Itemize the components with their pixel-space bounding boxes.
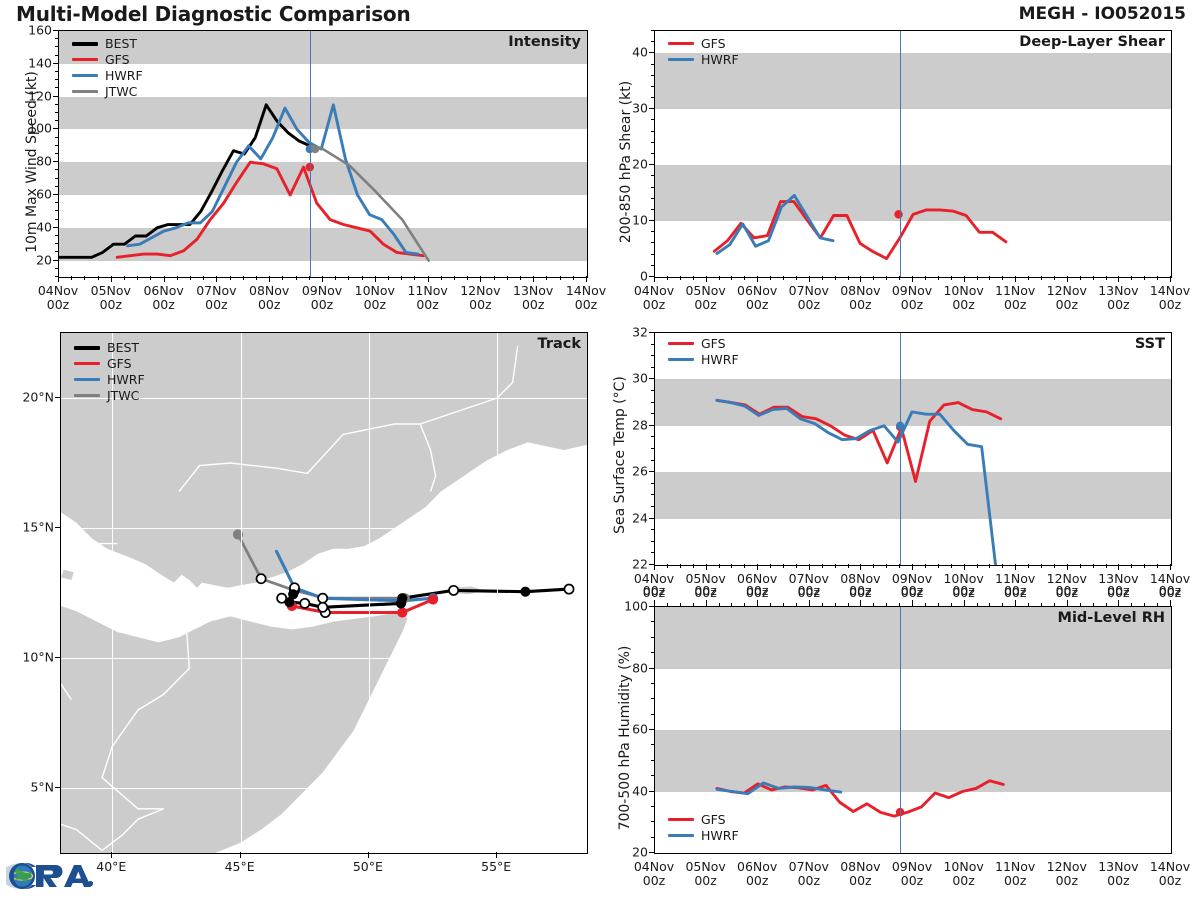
y-axis-tick-label: 22 bbox=[614, 557, 648, 572]
y-axis-tick-mark bbox=[649, 52, 654, 53]
y-axis-minor-tick bbox=[55, 46, 58, 47]
y-axis-minor-tick bbox=[55, 104, 58, 105]
x-axis-minor-tick bbox=[1144, 603, 1145, 607]
legend-item-hwrf: HWRF bbox=[668, 352, 739, 367]
sst-panel-label: SST bbox=[1135, 336, 1165, 352]
y-axis-minor-tick bbox=[651, 30, 654, 31]
x-axis-minor-tick bbox=[1106, 603, 1107, 607]
track-point-hwrf-open bbox=[318, 594, 327, 603]
x-axis-top-tick-label: 00z bbox=[1137, 584, 1200, 598]
track-point-best-open bbox=[318, 603, 327, 612]
shear-panel-label: Deep-Layer Shear bbox=[1019, 34, 1165, 50]
legend-item-hwrf: HWRF bbox=[668, 828, 739, 843]
legend-label-gfs: GFS bbox=[701, 812, 726, 827]
y-axis-tick-label: 10 bbox=[614, 213, 648, 228]
series-line-hwrf bbox=[717, 783, 841, 794]
x-axis-tick-label: 14Nov00z bbox=[1137, 860, 1200, 888]
y-axis-minor-tick bbox=[651, 529, 654, 530]
y-axis-minor-tick bbox=[651, 448, 654, 449]
x-axis-minor-tick bbox=[951, 603, 952, 607]
y-axis-minor-tick bbox=[651, 683, 654, 684]
y-axis-tick-label: 100 bbox=[614, 599, 648, 614]
current-time-line bbox=[900, 607, 901, 853]
y-axis-minor-tick bbox=[651, 254, 654, 255]
track-point-jtwc-open bbox=[257, 574, 266, 583]
y-axis-minor-tick bbox=[651, 175, 654, 176]
y-axis-minor-tick bbox=[55, 145, 58, 146]
y-axis-tick-mark bbox=[649, 729, 654, 730]
y-axis-tick-mark bbox=[53, 30, 58, 31]
map-lat-tick-mark bbox=[55, 657, 60, 658]
y-axis-tick-label: 40 bbox=[614, 783, 648, 798]
legend-item-gfs: GFS bbox=[668, 336, 739, 351]
map-gridline-lat bbox=[61, 658, 587, 659]
y-axis-tick-mark bbox=[53, 260, 58, 261]
map-lon-tick-mark bbox=[496, 852, 497, 858]
y-axis-minor-tick bbox=[651, 153, 654, 154]
track-point-best-filled bbox=[521, 587, 530, 596]
storm-title: MEGH - IO052015 bbox=[1019, 4, 1186, 24]
legend-item-gfs: GFS bbox=[668, 36, 739, 51]
map-lon-tick-label: 55°E bbox=[463, 860, 529, 874]
y-axis-minor-tick bbox=[55, 251, 58, 252]
x-axis-minor-tick bbox=[886, 603, 887, 607]
shear-plot-area: Deep-Layer Shear bbox=[654, 30, 1172, 278]
y-axis-minor-tick bbox=[651, 97, 654, 98]
x-axis-minor-tick bbox=[977, 603, 978, 607]
x-axis-tick-mark bbox=[706, 600, 707, 606]
track-panel-label: Track bbox=[538, 336, 581, 352]
box-sst-series-layer bbox=[655, 333, 1171, 565]
land-island-2 bbox=[61, 570, 74, 580]
y-axis-tick-mark bbox=[649, 668, 654, 669]
y-axis-minor-tick bbox=[651, 436, 654, 437]
y-axis-minor-tick bbox=[55, 87, 58, 88]
legend-label-gfs: GFS bbox=[105, 52, 130, 67]
series-line-hwrf bbox=[128, 105, 418, 254]
y-axis-minor-tick bbox=[651, 131, 654, 132]
x-axis-minor-tick bbox=[925, 603, 926, 607]
map-lon-tick-mark bbox=[368, 852, 369, 858]
x-axis-tick-mark bbox=[654, 600, 655, 606]
y-axis-tick-label: 160 bbox=[18, 23, 52, 38]
series-line-gfs bbox=[714, 202, 1006, 259]
map-lon-tick-label: 50°E bbox=[335, 860, 401, 874]
y-axis-tick-mark bbox=[649, 471, 654, 472]
y-axis-tick-label: 100 bbox=[18, 121, 52, 136]
x-axis-minor-tick bbox=[731, 603, 732, 607]
map-lat-tick-mark bbox=[55, 787, 60, 788]
legend-item-gfs: GFS bbox=[72, 52, 143, 67]
series-line-hwrf bbox=[717, 195, 833, 253]
y-axis-minor-tick bbox=[651, 806, 654, 807]
y-axis-tick-mark bbox=[649, 164, 654, 165]
y-axis-minor-tick bbox=[651, 231, 654, 232]
y-axis-tick-label: 20 bbox=[614, 845, 648, 860]
legend-item-hwrf: HWRF bbox=[668, 52, 739, 67]
y-axis-tick-label: 40 bbox=[614, 45, 648, 60]
y-axis-tick-mark bbox=[649, 852, 654, 853]
y-axis-minor-tick bbox=[651, 209, 654, 210]
y-axis-minor-tick bbox=[651, 637, 654, 638]
x-axis-minor-tick bbox=[796, 603, 797, 607]
sst-plot-area: SST bbox=[654, 332, 1172, 566]
x-axis-tick-mark bbox=[757, 600, 758, 606]
y-axis-tick-label: 140 bbox=[18, 55, 52, 70]
y-axis-tick-mark bbox=[649, 220, 654, 221]
y-axis-tick-label: 30 bbox=[614, 371, 648, 386]
series-marker-jtwc bbox=[311, 145, 319, 153]
legend-label-jtwc: JTWC bbox=[107, 388, 139, 403]
legend-swatch-best bbox=[74, 346, 100, 350]
y-axis-tick-mark bbox=[53, 128, 58, 129]
shear-legend: GFS HWRF bbox=[668, 36, 739, 67]
rh-panel-label: Mid-Level RH bbox=[1058, 610, 1165, 626]
y-axis-minor-tick bbox=[55, 112, 58, 113]
legend-item-best: BEST bbox=[74, 340, 145, 355]
border-djibouti bbox=[174, 590, 195, 616]
y-axis-tick-label: 26 bbox=[614, 464, 648, 479]
y-axis-tick-mark bbox=[53, 227, 58, 228]
current-time-line bbox=[900, 333, 901, 565]
y-axis-minor-tick bbox=[55, 169, 58, 170]
track-point-best-filled bbox=[396, 599, 405, 608]
legend-label-gfs: GFS bbox=[107, 356, 132, 371]
legend-swatch-hwrf bbox=[668, 358, 694, 361]
map-gridline-lon bbox=[497, 333, 498, 853]
y-axis-minor-tick bbox=[651, 41, 654, 42]
sst-legend: GFS HWRF bbox=[668, 336, 739, 367]
y-axis-minor-tick bbox=[55, 71, 58, 72]
y-axis-minor-tick bbox=[651, 541, 654, 542]
x-axis-minor-tick bbox=[744, 603, 745, 607]
legend-item-gfs: GFS bbox=[74, 356, 145, 371]
y-axis-minor-tick bbox=[55, 153, 58, 154]
x-axis-minor-tick bbox=[667, 603, 668, 607]
map-lat-tick-label: 10°N bbox=[6, 650, 54, 665]
map-lon-tick-mark bbox=[240, 852, 241, 858]
current-time-line bbox=[900, 31, 901, 277]
track-point-best-open bbox=[449, 586, 458, 595]
x-axis-minor-tick bbox=[938, 603, 939, 607]
y-axis-tick-label: 30 bbox=[614, 101, 648, 116]
x-axis-minor-tick bbox=[848, 603, 849, 607]
map-gridline-lat bbox=[61, 788, 587, 789]
x-axis-minor-tick bbox=[1002, 603, 1003, 607]
figure-canvas: Multi-Model Diagnostic Comparison MEGH -… bbox=[0, 0, 1200, 900]
y-axis-minor-tick bbox=[55, 137, 58, 138]
x-axis-tick-mark bbox=[964, 600, 965, 606]
x-axis-tick-mark bbox=[912, 600, 913, 606]
y-axis-minor-tick bbox=[651, 265, 654, 266]
x-axis-minor-tick bbox=[1131, 603, 1132, 607]
y-axis-minor-tick bbox=[55, 38, 58, 39]
intensity-panel-label: Intensity bbox=[508, 34, 581, 50]
map-lat-tick-mark bbox=[55, 527, 60, 528]
y-axis-tick-mark bbox=[53, 194, 58, 195]
track-point-gfs-filled bbox=[398, 608, 407, 617]
legend-label-hwrf: HWRF bbox=[105, 68, 143, 83]
legend-label-hwrf: HWRF bbox=[701, 352, 739, 367]
y-axis-tick-mark bbox=[649, 425, 654, 426]
y-axis-tick-label: 24 bbox=[614, 510, 648, 525]
y-axis-minor-tick bbox=[55, 268, 58, 269]
y-axis-minor-tick bbox=[651, 142, 654, 143]
y-axis-tick-mark bbox=[649, 606, 654, 607]
legend-item-hwrf: HWRF bbox=[72, 68, 143, 83]
y-axis-minor-tick bbox=[651, 494, 654, 495]
y-axis-minor-tick bbox=[651, 242, 654, 243]
map-gridline-lon bbox=[241, 333, 242, 853]
y-axis-tick-mark bbox=[649, 378, 654, 379]
y-axis-minor-tick bbox=[651, 344, 654, 345]
x-axis-minor-tick bbox=[1157, 603, 1158, 607]
y-axis-minor-tick bbox=[651, 367, 654, 368]
y-axis-tick-label: 20 bbox=[18, 252, 52, 267]
main-title: Multi-Model Diagnostic Comparison bbox=[16, 2, 411, 26]
legend-swatch-gfs bbox=[74, 362, 100, 365]
y-axis-minor-tick bbox=[651, 402, 654, 403]
legend-swatch-jtwc bbox=[72, 90, 98, 93]
y-axis-minor-tick bbox=[55, 178, 58, 179]
legend-label-gfs: GFS bbox=[701, 36, 726, 51]
x-axis-tick-label: 14Nov00z bbox=[1137, 284, 1200, 312]
y-axis-minor-tick bbox=[55, 219, 58, 220]
y-axis-minor-tick bbox=[651, 652, 654, 653]
y-axis-minor-tick bbox=[651, 86, 654, 87]
series-line-gfs bbox=[717, 400, 1001, 481]
y-axis-tick-label: 28 bbox=[614, 417, 648, 432]
track-point-best-open bbox=[564, 585, 573, 594]
y-axis-minor-tick bbox=[651, 506, 654, 507]
x-axis-minor-tick bbox=[1093, 603, 1094, 607]
y-axis-minor-tick bbox=[651, 64, 654, 65]
x-axis-minor-tick bbox=[835, 603, 836, 607]
map-lon-tick-label: 45°E bbox=[207, 860, 273, 874]
y-axis-tick-label: 32 bbox=[614, 325, 648, 340]
y-axis-minor-tick bbox=[651, 621, 654, 622]
legend-swatch-hwrf bbox=[74, 378, 100, 381]
y-axis-minor-tick bbox=[55, 79, 58, 80]
x-axis-minor-tick bbox=[873, 603, 874, 607]
x-axis-minor-tick bbox=[680, 603, 681, 607]
map-lat-tick-label: 15°N bbox=[6, 520, 54, 535]
legend-label-hwrf: HWRF bbox=[107, 372, 145, 387]
legend-swatch-gfs bbox=[668, 42, 694, 45]
y-axis-tick-mark bbox=[649, 518, 654, 519]
y-axis-minor-tick bbox=[651, 413, 654, 414]
legend-item-best: BEST bbox=[72, 36, 143, 51]
x-axis-minor-tick bbox=[899, 603, 900, 607]
rh-y-axis-label: 700-500 hPa Humidity (%) bbox=[617, 623, 633, 853]
y-axis-tick-label: 60 bbox=[18, 187, 52, 202]
current-time-line bbox=[310, 31, 311, 277]
x-axis-tick-mark bbox=[1067, 600, 1068, 606]
y-axis-tick-label: 0 bbox=[614, 269, 648, 284]
y-axis-tick-label: 60 bbox=[614, 722, 648, 737]
cira-logo bbox=[6, 856, 98, 896]
y-axis-minor-tick bbox=[55, 120, 58, 121]
x-axis-minor-tick bbox=[1041, 603, 1042, 607]
map-gridline-lon bbox=[369, 333, 370, 853]
box-shear-series-layer bbox=[655, 31, 1171, 277]
x-axis-tick-mark bbox=[809, 600, 810, 606]
y-axis-minor-tick bbox=[651, 119, 654, 120]
legend-label-gfs: GFS bbox=[701, 336, 726, 351]
y-axis-tick-mark bbox=[53, 63, 58, 64]
y-axis-tick-label: 80 bbox=[614, 660, 648, 675]
x-axis-minor-tick bbox=[770, 603, 771, 607]
legend-swatch-gfs bbox=[668, 818, 694, 821]
cira-logo-graphic bbox=[6, 856, 98, 896]
y-axis-tick-mark bbox=[53, 96, 58, 97]
rh-legend: GFS HWRF bbox=[668, 812, 739, 843]
y-axis-minor-tick bbox=[55, 210, 58, 211]
y-axis-minor-tick bbox=[651, 355, 654, 356]
map-gridline-lat bbox=[61, 528, 587, 529]
map-lon-tick-mark bbox=[111, 852, 112, 858]
y-axis-minor-tick bbox=[651, 760, 654, 761]
track-map-layer bbox=[61, 333, 587, 853]
y-axis-minor-tick bbox=[651, 837, 654, 838]
y-axis-minor-tick bbox=[651, 390, 654, 391]
x-axis-tick-mark bbox=[1170, 600, 1171, 606]
series-line-gfs bbox=[117, 162, 423, 257]
legend-swatch-gfs bbox=[668, 342, 694, 345]
series-line-jtwc bbox=[310, 146, 429, 261]
y-axis-minor-tick bbox=[651, 483, 654, 484]
legend-item-hwrf: HWRF bbox=[74, 372, 145, 387]
legend-label-hwrf: HWRF bbox=[701, 828, 739, 843]
legend-swatch-hwrf bbox=[668, 834, 694, 837]
x-axis-tick-mark bbox=[860, 600, 861, 606]
map-lat-tick-mark bbox=[55, 397, 60, 398]
y-axis-tick-mark bbox=[649, 108, 654, 109]
y-axis-minor-tick bbox=[651, 460, 654, 461]
y-axis-minor-tick bbox=[55, 235, 58, 236]
y-axis-tick-label: 120 bbox=[18, 88, 52, 103]
legend-item-jtwc: JTWC bbox=[74, 388, 145, 403]
legend-swatch-hwrf bbox=[668, 58, 694, 61]
y-axis-tick-mark bbox=[649, 332, 654, 333]
x-axis-minor-tick bbox=[822, 603, 823, 607]
y-axis-minor-tick bbox=[651, 552, 654, 553]
track-point-best-filled bbox=[289, 590, 298, 599]
y-axis-minor-tick bbox=[651, 75, 654, 76]
legend-swatch-jtwc bbox=[74, 394, 100, 397]
y-axis-tick-label: 40 bbox=[18, 219, 52, 234]
y-axis-minor-tick bbox=[651, 198, 654, 199]
x-axis-minor-tick bbox=[719, 603, 720, 607]
y-axis-minor-tick bbox=[651, 714, 654, 715]
x-axis-tick-mark bbox=[1015, 600, 1016, 606]
x-axis-minor-tick bbox=[1080, 603, 1081, 607]
x-axis-minor-tick bbox=[1028, 603, 1029, 607]
y-axis-minor-tick bbox=[651, 821, 654, 822]
series-line-best bbox=[59, 105, 310, 258]
track-map-area: Track bbox=[60, 332, 588, 854]
y-axis-minor-tick bbox=[651, 187, 654, 188]
y-axis-minor-tick bbox=[651, 744, 654, 745]
x-axis-minor-tick bbox=[1054, 603, 1055, 607]
x-axis-tick-label: 14Nov00z bbox=[553, 284, 619, 312]
legend-swatch-best bbox=[72, 42, 98, 46]
legend-label-jtwc: JTWC bbox=[105, 84, 137, 99]
series-marker-gfs bbox=[894, 210, 902, 218]
legend-item-jtwc: JTWC bbox=[72, 84, 143, 99]
y-axis-minor-tick bbox=[55, 186, 58, 187]
map-lat-tick-label: 5°N bbox=[6, 780, 54, 795]
y-axis-tick-mark bbox=[53, 161, 58, 162]
legend-label-best: BEST bbox=[105, 36, 137, 51]
track-point-gfs-filled bbox=[428, 595, 437, 604]
y-axis-tick-label: 80 bbox=[18, 154, 52, 169]
track-point-best-open bbox=[300, 599, 309, 608]
y-axis-minor-tick bbox=[55, 55, 58, 56]
legend-item-gfs: GFS bbox=[668, 812, 739, 827]
track-legend: BEST GFS HWRF JTWC bbox=[74, 340, 145, 403]
legend-label-hwrf: HWRF bbox=[701, 52, 739, 67]
y-axis-minor-tick bbox=[651, 698, 654, 699]
y-axis-tick-label: 20 bbox=[614, 157, 648, 172]
x-axis-minor-tick bbox=[989, 603, 990, 607]
legend-label-best: BEST bbox=[107, 340, 139, 355]
y-axis-minor-tick bbox=[55, 202, 58, 203]
map-gridline-lon bbox=[112, 333, 113, 853]
legend-swatch-hwrf bbox=[72, 74, 98, 77]
map-lat-tick-label: 20°N bbox=[6, 390, 54, 405]
y-axis-minor-tick bbox=[651, 775, 654, 776]
y-axis-tick-mark bbox=[649, 791, 654, 792]
x-axis-minor-tick bbox=[783, 603, 784, 607]
legend-swatch-gfs bbox=[72, 58, 98, 61]
intensity-legend: BEST GFS HWRF JTWC bbox=[72, 36, 143, 99]
series-line-hwrf bbox=[717, 400, 996, 565]
y-axis-minor-tick bbox=[55, 243, 58, 244]
x-axis-tick-mark bbox=[1118, 600, 1119, 606]
x-axis-minor-tick bbox=[693, 603, 694, 607]
